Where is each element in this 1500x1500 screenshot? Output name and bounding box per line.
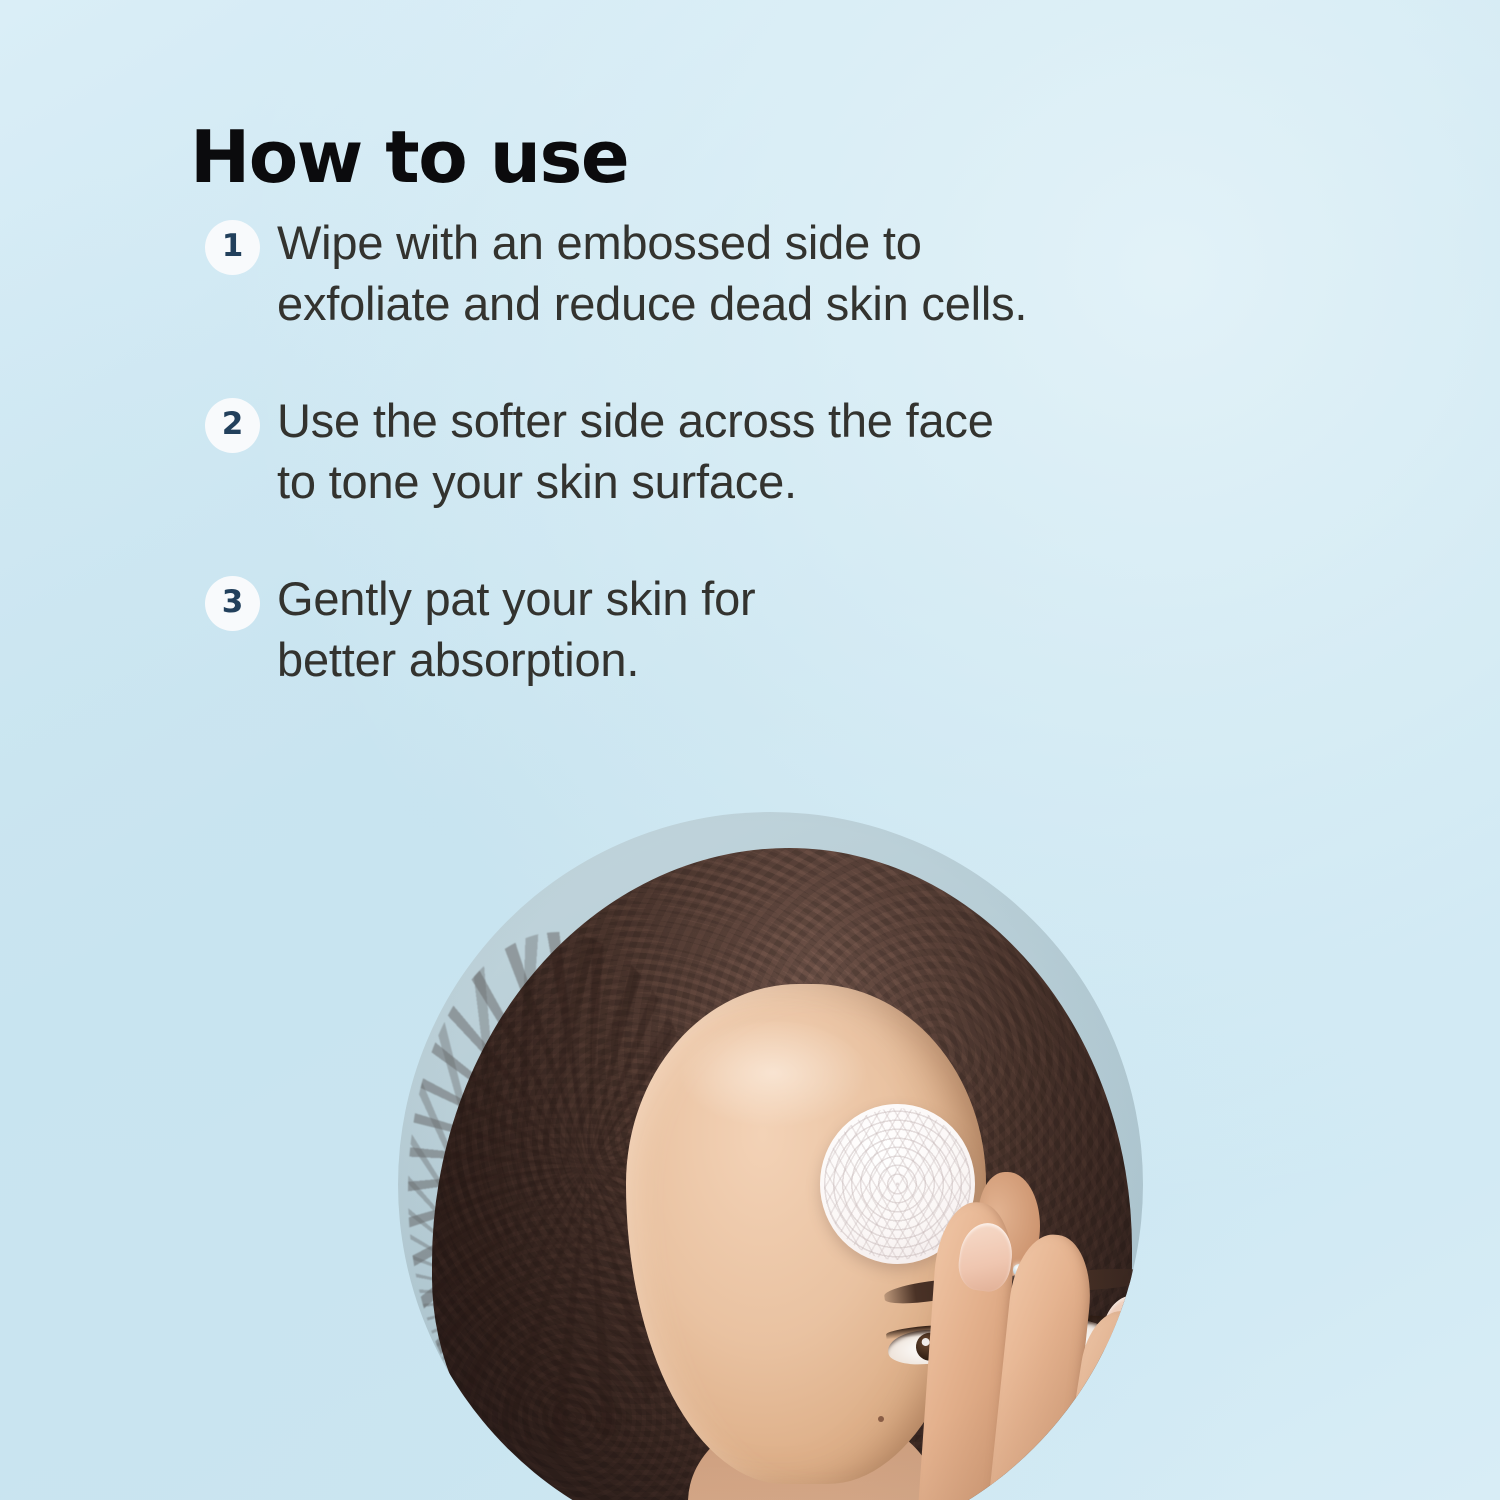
mole-cheek [878,1416,884,1422]
step-number-badge: 2 [205,398,260,453]
hand [918,1192,1143,1500]
list-item: 2 Use the softer side across the face to… [190,390,1340,512]
model-photo [398,812,1143,1500]
page-title: How to use [190,120,628,196]
step-number: 1 [222,231,244,262]
step-text: Gently pat your skin for better absorpti… [277,568,755,690]
step-number: 3 [222,587,244,618]
step-number: 2 [222,409,244,440]
photo-circle-mask [398,812,1143,1500]
list-item: 1 Wipe with an embossed side to exfoliat… [190,212,1340,334]
steps-list: 1 Wipe with an embossed side to exfoliat… [190,212,1340,691]
step-number-badge: 1 [205,220,260,275]
how-to-use-panel: How to use 1 Wipe with an embossed side … [0,0,1500,1500]
fingernail-index [955,1220,1016,1295]
list-item: 3 Gently pat your skin for better absorp… [190,568,1340,690]
step-text: Use the softer side across the face to t… [277,390,994,512]
step-number-badge: 3 [205,576,260,631]
step-text: Wipe with an embossed side to exfoliate … [277,212,1027,334]
